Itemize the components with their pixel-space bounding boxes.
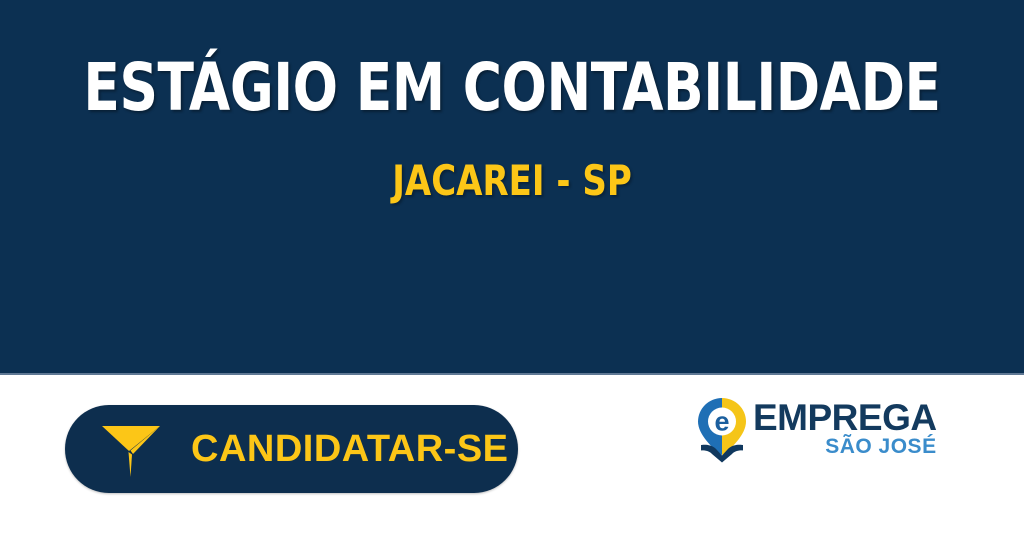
page-title: ESTÁGIO EM CONTABILIDADE [51, 55, 973, 121]
brand-name: EMPREGA [753, 401, 937, 435]
apply-button[interactable]: CANDIDATAR-SE [65, 405, 518, 493]
location-subtitle: JACAREI - SP [51, 160, 973, 202]
footer-bar: CANDIDATAR-SE [0, 375, 1024, 538]
svg-text:e: e [714, 407, 729, 437]
job-posting-banner: ESTÁGIO EM CONTABILIDADE JACAREI - SP CA… [0, 0, 1024, 538]
brand-wordmark: EMPREGA SÃO JOSÉ [753, 401, 937, 457]
brand-logo[interactable]: e EMPREGA SÃO JOSÉ [695, 397, 920, 469]
hero-banner: ESTÁGIO EM CONTABILIDADE JACAREI - SP [0, 0, 1024, 375]
map-pin-e-icon: e [695, 397, 749, 463]
paper-plane-send-icon [99, 417, 163, 481]
apply-button-label: CANDIDATAR-SE [191, 430, 509, 468]
brand-city: SÃO JOSÉ [825, 436, 936, 457]
